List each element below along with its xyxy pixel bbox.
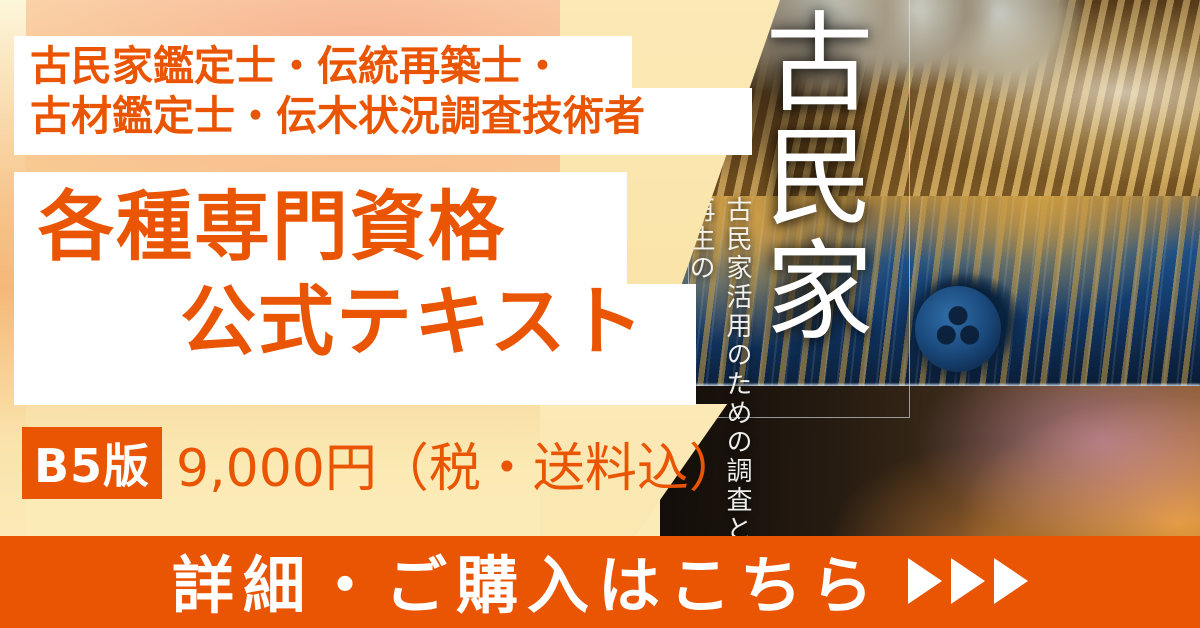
family-crest-medallion [915, 286, 1001, 372]
cta-arrow-group [908, 558, 1028, 604]
product-title-panel: 各種専門資格 公式テキスト [14, 172, 696, 405]
certifications-line-2: 古材鑑定士・伝木状況調査技術者 [30, 91, 645, 141]
cta-label: 詳細・ご購入はこちら [172, 535, 882, 625]
chevron-right-icon [994, 558, 1028, 604]
cover-title-text: 古民家 [746, 6, 873, 348]
price-amount: 9,000円（税・送料込） [176, 427, 741, 499]
chevron-right-icon [908, 558, 942, 604]
cta-bar[interactable]: 詳細・ご購入はこちら [0, 536, 1200, 628]
product-title-line-1: 各種専門資格 [38, 179, 506, 275]
size-badge: B5版 [22, 427, 162, 499]
chevron-right-icon [951, 558, 985, 604]
product-title-line-2: 公式テキスト [180, 274, 646, 370]
price-row: B5版 9,000円（税・送料込） [0, 405, 760, 520]
promo-banner: 伝統構法 古民家活用のための調査と再生の 古民家 古民家鑑定士・伝統再築士・ 古… [0, 0, 1200, 628]
certifications-line-1: 古民家鑑定士・伝統再築士・ [30, 41, 563, 91]
